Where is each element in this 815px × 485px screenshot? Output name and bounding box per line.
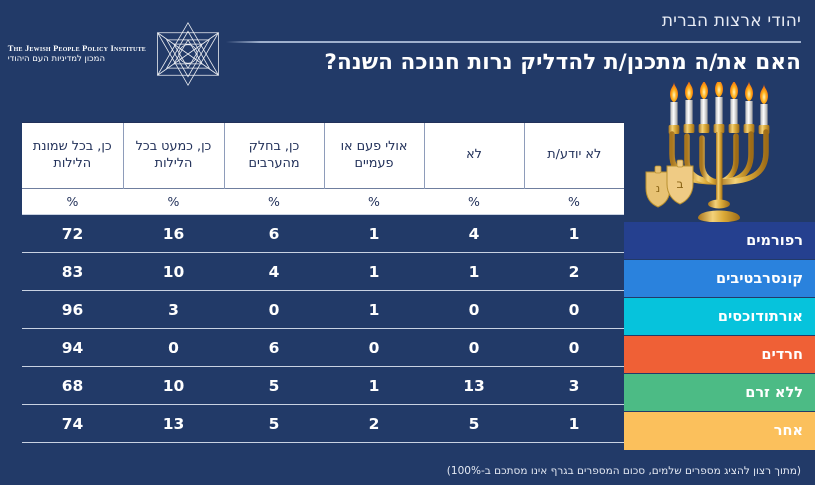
star-of-david-icon (152, 20, 224, 88)
data-cell: 3 (123, 291, 224, 329)
column-header: כן, כמעט בכל הלילות (123, 123, 224, 189)
unit-cell: % (324, 189, 424, 215)
row-label-haredi: חרדים (624, 336, 815, 374)
data-cell: 4 (224, 253, 324, 291)
jppi-logo: The Jewish People Policy Institute המכון… (14, 18, 224, 90)
column-header: אולי פעם או פעמיים (324, 123, 424, 189)
data-cell: 72 (22, 215, 123, 253)
row-label-other: אחר (624, 412, 815, 450)
data-cell: 6 (224, 329, 324, 367)
data-cell: 13 (424, 367, 524, 405)
unit-cell: % (224, 189, 324, 215)
data-cell: 16 (123, 215, 224, 253)
table-row: 0 0 1 0 3 96 (22, 291, 624, 329)
row-label-column: רפורמים קונסרבטיבים אורתודוכסים חרדים לל… (624, 222, 815, 450)
table-header-row: לא יודע/ת לא אולי פעם או פעמיים כן, בחלק… (22, 123, 624, 189)
row-label-text: קונסרבטיבים (716, 271, 803, 287)
data-cell: 1 (524, 215, 624, 253)
data-cell: 94 (22, 329, 123, 367)
data-cell: 2 (524, 253, 624, 291)
question-title: האם את/ה מתכנן/ת להדליק נרות חנוכה השנה? (324, 50, 801, 75)
row-label-text: אורתודוכסים (718, 309, 803, 325)
column-header: כן, בכל שמונת הלילות (22, 123, 123, 189)
data-cell: 68 (22, 367, 123, 405)
data-cell: 0 (524, 329, 624, 367)
data-cell: 1 (324, 291, 424, 329)
unit-cell: % (123, 189, 224, 215)
data-cell: 10 (123, 253, 224, 291)
data-cell: 0 (424, 329, 524, 367)
data-cell: 0 (424, 291, 524, 329)
data-cell: 3 (524, 367, 624, 405)
data-cell: 4 (424, 215, 524, 253)
dreidel-icon: נ (646, 166, 670, 207)
row-label-text: ללא זרם (745, 385, 803, 401)
table-row: 0 0 0 6 0 94 (22, 329, 624, 367)
data-cell: 10 (123, 367, 224, 405)
data-cell: 5 (224, 405, 324, 443)
row-label-conservative: קונסרבטיבים (624, 260, 815, 298)
logo-english-name: The Jewish People Policy Institute (8, 44, 146, 54)
svg-text:נ: נ (656, 182, 660, 195)
logo-hebrew-name: המכון למדיניות העם היהודי (8, 55, 105, 65)
data-cell: 13 (123, 405, 224, 443)
data-cell: 74 (22, 405, 123, 443)
row-label-no-stream: ללא זרם (624, 374, 815, 412)
row-label-text: רפורמים (746, 233, 803, 249)
column-header: לא (424, 123, 524, 189)
unit-cell: % (424, 189, 524, 215)
footnote: (מתוך רצון להציג מספרים שלמים, סכום המספ… (447, 465, 801, 477)
data-cell: 0 (123, 329, 224, 367)
table-row: 1 4 1 6 16 72 (22, 215, 624, 253)
logo-text: The Jewish People Policy Institute המכון… (8, 44, 146, 65)
row-label-reform: רפורמים (624, 222, 815, 260)
table-row: 1 5 2 5 13 74 (22, 405, 624, 443)
data-cell: 1 (424, 253, 524, 291)
data-cell: 1 (324, 367, 424, 405)
data-cell: 1 (324, 215, 424, 253)
unit-cell: % (22, 189, 123, 215)
row-label-orthodox: אורתודוכסים (624, 298, 815, 336)
data-cell: 6 (224, 215, 324, 253)
data-cell: 5 (224, 367, 324, 405)
menorah-icon: נ ב (632, 82, 815, 224)
data-cell: 0 (524, 291, 624, 329)
results-table: לא יודע/ת לא אולי פעם או פעמיים כן, בחלק… (22, 122, 624, 443)
data-cell: 96 (22, 291, 123, 329)
row-label-text: חרדים (761, 347, 803, 363)
top-title: יהודי ארצות הברית (662, 11, 801, 31)
title-divider (226, 41, 801, 43)
table-row: 2 1 1 4 10 83 (22, 253, 624, 291)
svg-text:ב: ב (677, 177, 684, 191)
data-cell: 0 (324, 329, 424, 367)
data-cell: 1 (524, 405, 624, 443)
dreidel-icon: ב (667, 160, 693, 204)
unit-cell: % (524, 189, 624, 215)
data-cell: 5 (424, 405, 524, 443)
data-cell: 83 (22, 253, 123, 291)
infographic-root: The Jewish People Policy Institute המכון… (0, 0, 815, 485)
column-header: לא יודע/ת (524, 123, 624, 189)
data-cell: 1 (324, 253, 424, 291)
table-row: 3 13 1 5 10 68 (22, 367, 624, 405)
unit-row: % % % % % % (22, 189, 624, 215)
column-header: כן, בחלק מהערבים (224, 123, 324, 189)
data-cell: 2 (324, 405, 424, 443)
row-label-text: אחר (774, 423, 803, 439)
data-cell: 0 (224, 291, 324, 329)
